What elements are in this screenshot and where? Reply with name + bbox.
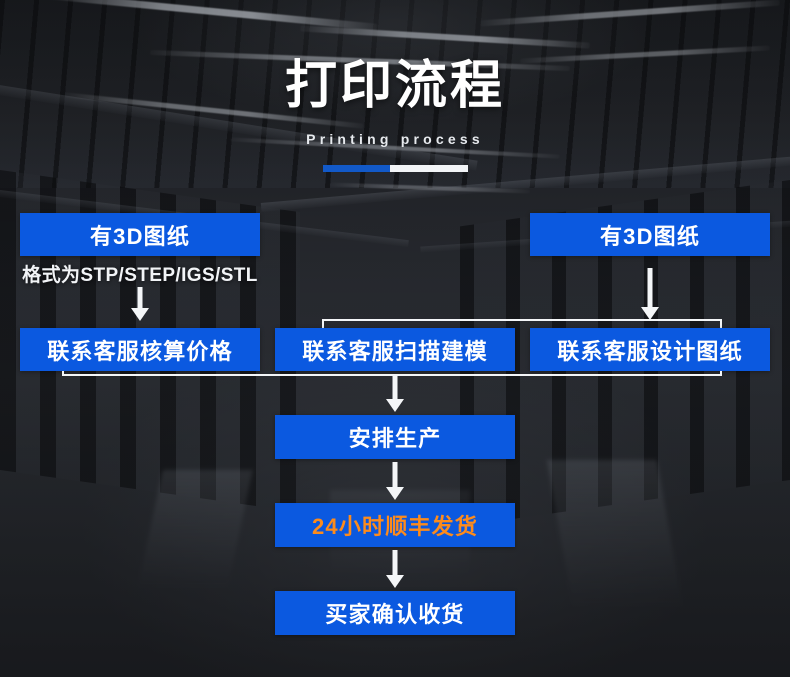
arrow-down-icon-right-to-design [638, 268, 662, 320]
title-divider-white-segment [390, 165, 468, 172]
connector-bottom-bracket-right-stub [720, 371, 722, 375]
arrow-shaft [138, 287, 143, 308]
arrow-down-icon-to-production [383, 374, 407, 412]
title-divider [323, 165, 468, 172]
arrow-down-icon-to-receipt [383, 550, 407, 588]
arrow-head [386, 399, 404, 412]
node-contact-support-scan-model[interactable]: 联系客服扫描建模 [275, 328, 515, 371]
arrow-shaft [648, 268, 653, 307]
page-subtitle: Printing process [0, 130, 790, 148]
page-title: 打印流程 [0, 56, 790, 116]
caption-file-formats: 格式为STP/STEP/IGS/STL [20, 260, 260, 287]
node-contact-support-pricing[interactable]: 联系客服核算价格 [20, 328, 260, 371]
arrow-shaft [393, 374, 398, 399]
arrow-shaft [393, 550, 398, 575]
connector-bottom-bracket-left-stub [62, 371, 64, 375]
connector-top-bracket-horizontal [322, 319, 722, 321]
arrow-head [386, 575, 404, 588]
title-divider-blue-segment [323, 165, 390, 172]
node-has-3d-drawing-left[interactable]: 有3D图纸 [20, 213, 260, 256]
node-has-3d-drawing-right[interactable]: 有3D图纸 [530, 213, 770, 256]
node-arrange-production[interactable]: 安排生产 [275, 415, 515, 459]
arrow-down-icon-left-to-price [128, 287, 152, 321]
arrow-head [131, 308, 149, 321]
node-buyer-confirm-receipt[interactable]: 买家确认收货 [275, 591, 515, 635]
arrow-shaft [393, 462, 398, 487]
node-24h-sf-express-shipping[interactable]: 24小时顺丰发货 [275, 503, 515, 547]
node-contact-support-design-drawing[interactable]: 联系客服设计图纸 [530, 328, 770, 371]
arrow-head [386, 487, 404, 500]
header-block: 打印流程 Printing process [0, 56, 790, 172]
printing-process-infographic: 打印流程 Printing process 有3D图纸 格式为STP/STEP/… [0, 0, 790, 696]
arrow-down-icon-to-shipping [383, 462, 407, 500]
